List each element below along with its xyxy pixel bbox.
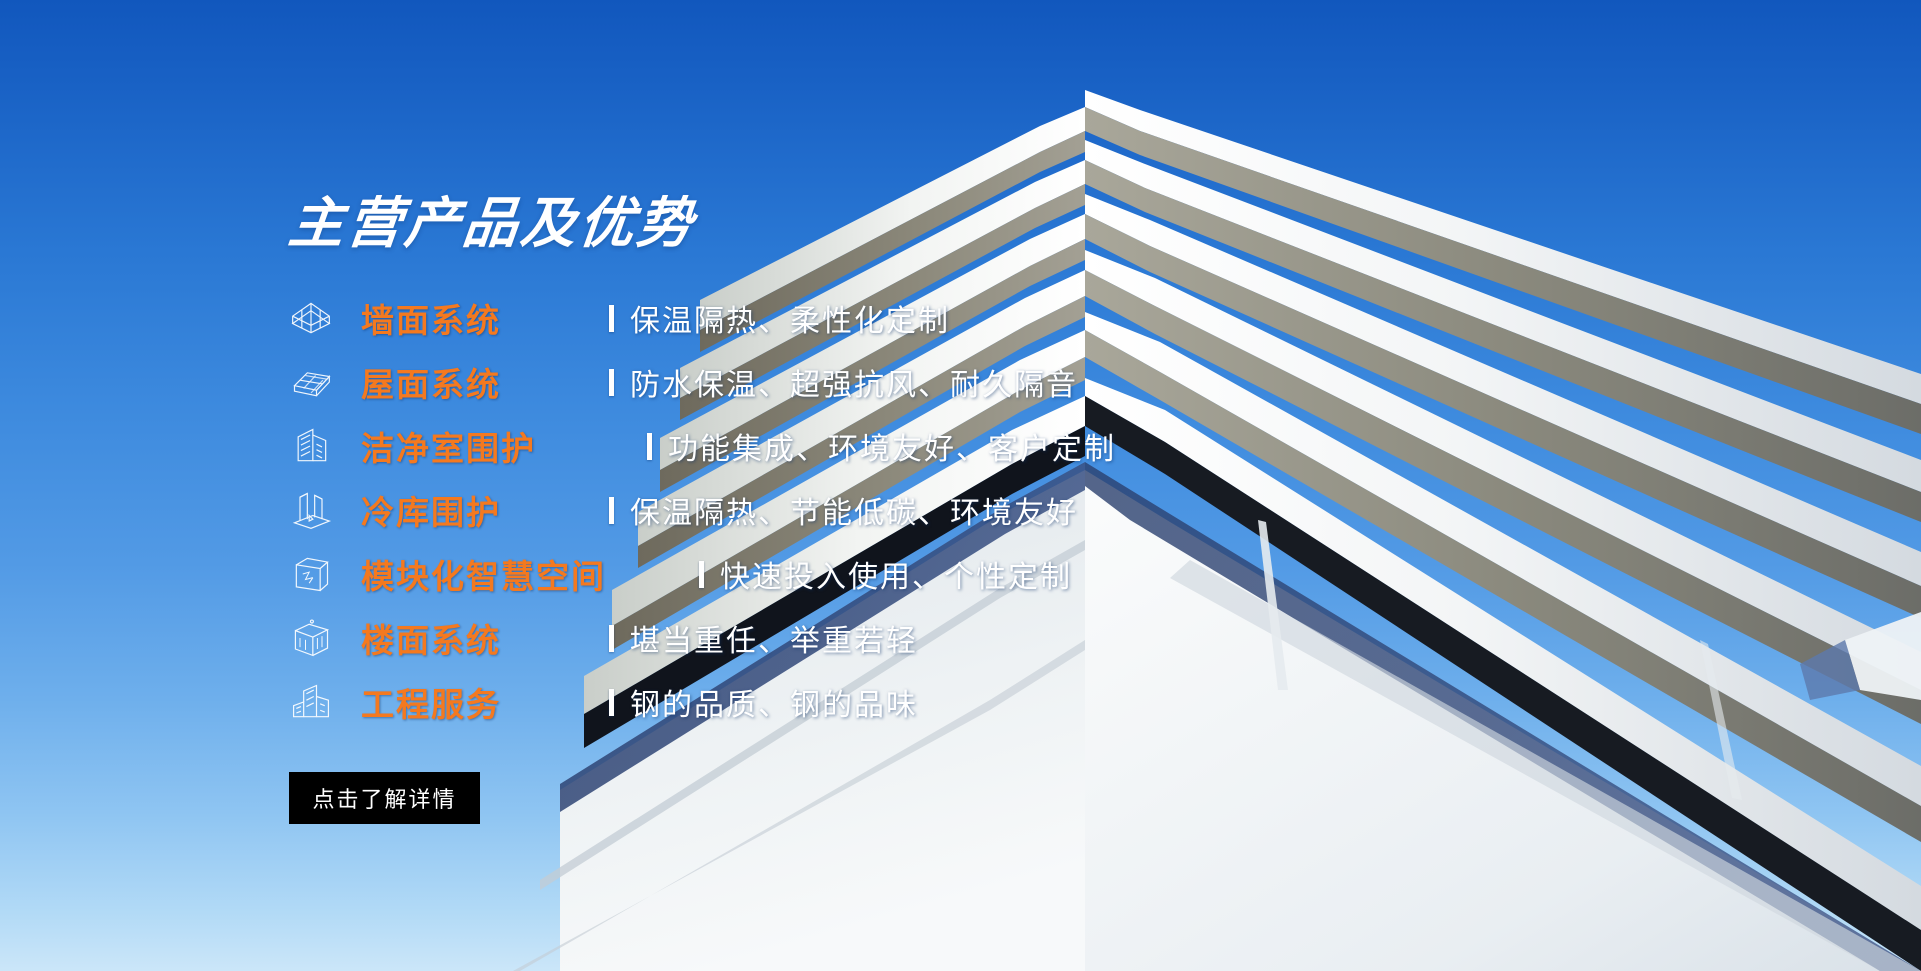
- list-item-desc: 防水保温、超强抗风、耐久隔音: [630, 360, 1078, 404]
- list-item[interactable]: 楼面系统 堪当重任、举重若轻: [289, 606, 1409, 670]
- page-title: 主营产品及优势: [286, 196, 1412, 251]
- list-item-name: 工程服务: [361, 678, 501, 726]
- separator-bar: [609, 625, 614, 652]
- list-item-name: 墙面系统: [361, 294, 501, 342]
- learn-more-button[interactable]: 点击了解详情: [289, 772, 480, 824]
- modular-cube-icon: [289, 552, 333, 596]
- separator-bar: [609, 497, 614, 524]
- list-item[interactable]: 工程服务 钢的品质、钢的品味: [289, 670, 1409, 734]
- list-item-name: 冷库围护: [361, 486, 501, 534]
- separator-bar: [609, 689, 614, 716]
- hero-banner: 主营产品及优势 墙面系统 保温隔热、柔性化定制: [0, 0, 1921, 971]
- separator-bar: [609, 305, 614, 332]
- list-item-desc: 保温隔热、柔性化定制: [630, 296, 950, 340]
- product-list: 墙面系统 保温隔热、柔性化定制 屋面系统: [289, 286, 1409, 734]
- list-item[interactable]: 冷库围护 保温隔热、节能低碳、环境友好: [289, 478, 1409, 542]
- list-item-name: 屋面系统: [361, 358, 501, 406]
- list-item[interactable]: 洁净室围护 功能集成、环境友好、客户定制: [289, 414, 1409, 478]
- list-item-desc: 功能集成、环境友好、客户定制: [668, 424, 1116, 468]
- list-item[interactable]: 墙面系统 保温隔热、柔性化定制: [289, 286, 1409, 350]
- list-item-desc: 保温隔热、节能低碳、环境友好: [630, 488, 1078, 532]
- roof-panel-icon: [289, 360, 333, 404]
- cleanroom-building-icon: [289, 424, 333, 468]
- list-item[interactable]: 模块化智慧空间 快速投入使用、个性定制: [289, 542, 1409, 606]
- list-item-name: 模块化智慧空间: [361, 550, 606, 598]
- hero-content: 主营产品及优势 墙面系统 保温隔热、柔性化定制: [289, 196, 1409, 824]
- floor-module-icon: [289, 616, 333, 660]
- separator-bar: [647, 433, 652, 460]
- list-item-desc: 钢的品质、钢的品味: [630, 680, 918, 724]
- factory-service-icon: [289, 680, 333, 724]
- wall-frame-icon: [289, 296, 333, 340]
- list-item-desc: 快速投入使用、个性定制: [720, 552, 1072, 596]
- cold-storage-icon: [289, 488, 333, 532]
- list-item-name: 洁净室围护: [361, 422, 536, 470]
- list-item-desc: 堪当重任、举重若轻: [630, 616, 918, 660]
- list-item[interactable]: 屋面系统 防水保温、超强抗风、耐久隔音: [289, 350, 1409, 414]
- separator-bar: [699, 561, 704, 588]
- list-item-name: 楼面系统: [361, 614, 501, 662]
- separator-bar: [609, 369, 614, 396]
